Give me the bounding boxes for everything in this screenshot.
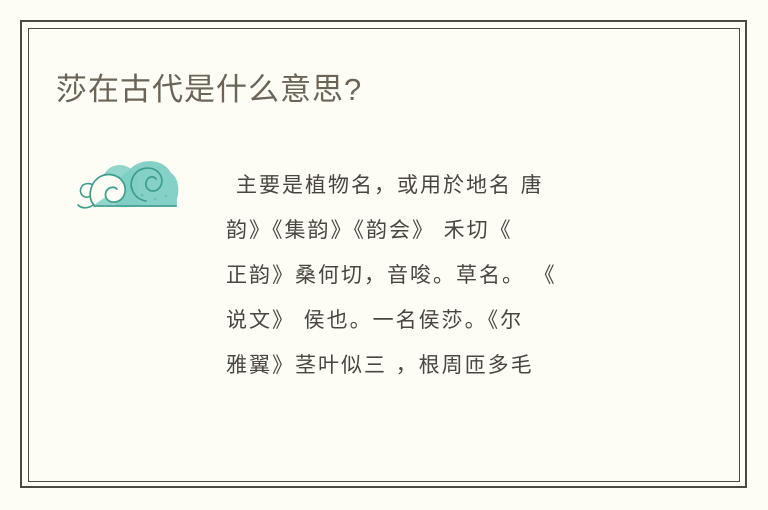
body-line: 主要是植物名，或用於地名 唐: [226, 163, 646, 208]
body-line: 说文》 侯也。一名侯莎。《尔: [226, 298, 646, 343]
answer-card: 莎在古代是什么意思? 主要是植物名: [0, 0, 768, 510]
page-title: 莎在古代是什么意思?: [56, 68, 362, 112]
body-line: 雅翼》茎叶似三 ，根周匝多毛: [226, 343, 646, 388]
body-line: 正韵》桑何切，音唆。草名。 《: [226, 253, 646, 298]
answer-body: 主要是植物名，或用於地名 唐 韵》《集韵》《韵会》 禾切《 正韵》桑何切，音唆。…: [226, 163, 646, 388]
body-line: 韵》《集韵》《韵会》 禾切《: [226, 208, 646, 253]
chinese-cloud-icon: [72, 155, 184, 213]
